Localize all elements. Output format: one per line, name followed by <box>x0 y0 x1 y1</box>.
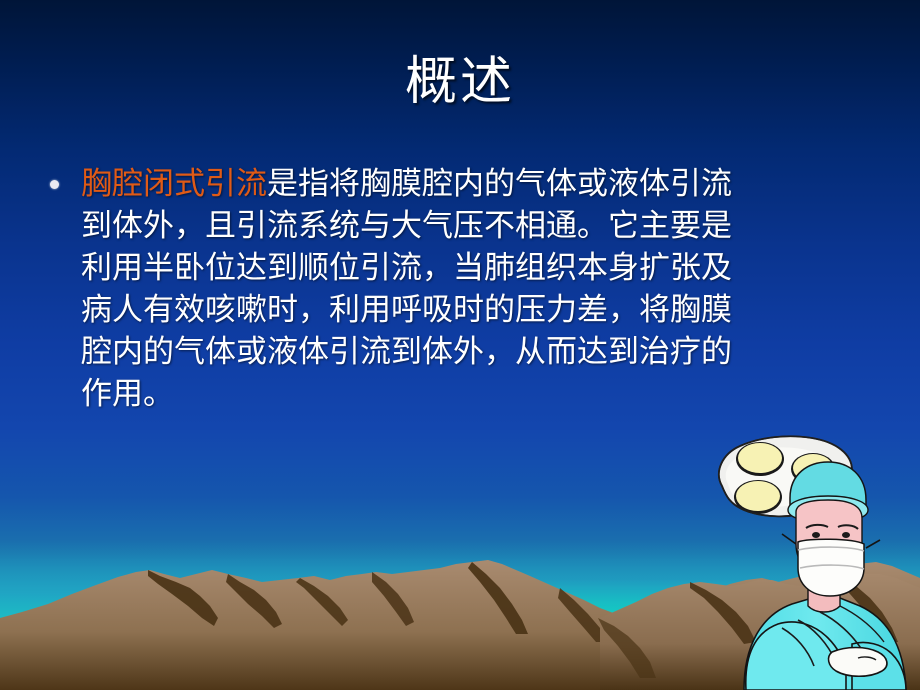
highlight-term: 胸腔闭式引流 <box>81 166 267 201</box>
surgeon-under-operating-lamp <box>712 428 920 690</box>
body-line-1: 是指将胸膜腔内的气体或液体引流 <box>267 166 732 201</box>
body-line-4: 病人有效咳嗽时，利用呼吸时的压力差，将胸膜 <box>81 289 880 331</box>
presentation-slide: 概述 胸腔闭式引流是指将胸膜腔内的气体或液体引流 到体外，且引流系统与大气压不相… <box>0 0 920 690</box>
slide-body: 胸腔闭式引流是指将胸膜腔内的气体或液体引流 到体外，且引流系统与大气压不相通。它… <box>50 163 880 415</box>
bullet-item: 胸腔闭式引流是指将胸膜腔内的气体或液体引流 到体外，且引流系统与大气压不相通。它… <box>50 163 880 415</box>
body-line-3: 利用半卧位达到顺位引流，当肺组织本身扩张及 <box>81 247 880 289</box>
body-paragraph: 胸腔闭式引流是指将胸膜腔内的气体或液体引流 到体外，且引流系统与大气压不相通。它… <box>81 163 880 415</box>
body-line-6: 作用。 <box>81 373 880 415</box>
bullet-dot-icon <box>50 180 59 189</box>
body-line-2: 到体外，且引流系统与大气压不相通。它主要是 <box>81 205 880 247</box>
slide-title: 概述 <box>0 54 920 111</box>
body-line-5: 腔内的气体或液体引流到体外，从而达到治疗的 <box>81 331 880 373</box>
